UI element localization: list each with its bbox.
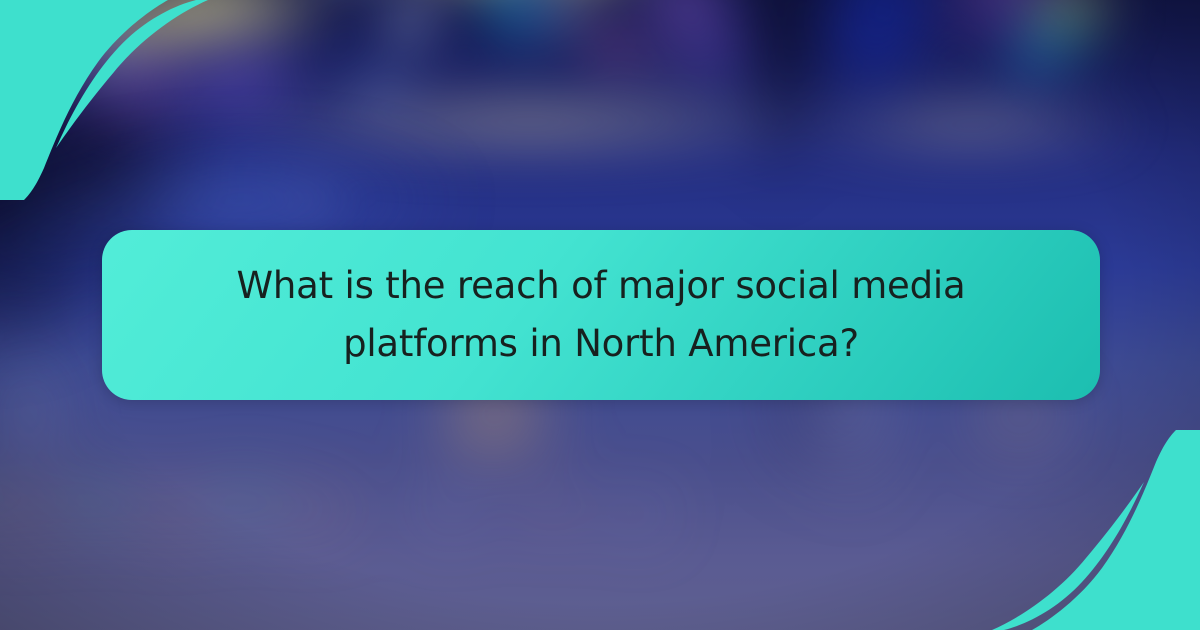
question-text: What is the reach of major social media … bbox=[221, 257, 981, 372]
question-card: What is the reach of major social media … bbox=[102, 230, 1100, 400]
share-card-canvas: What is the reach of major social media … bbox=[0, 0, 1200, 630]
